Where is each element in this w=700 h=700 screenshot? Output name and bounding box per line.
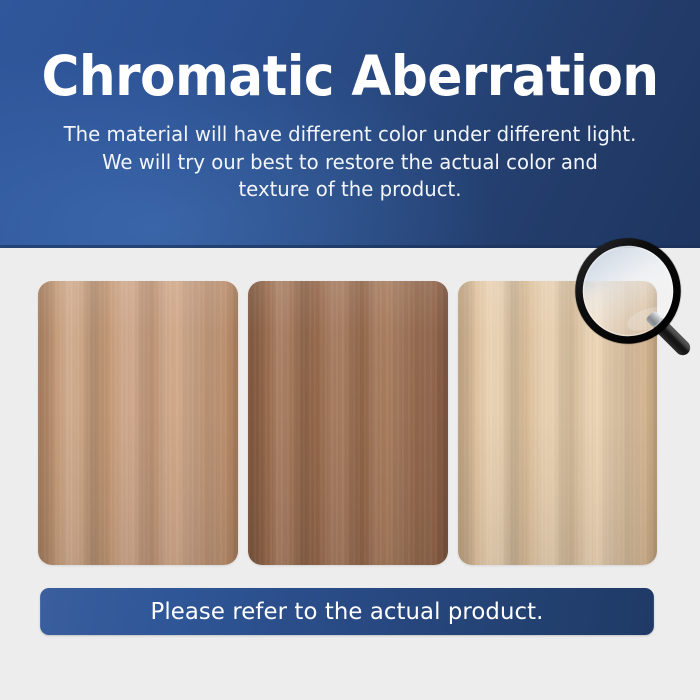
swatch-1-shading: [38, 281, 238, 565]
swatch-2-shading: [248, 281, 448, 565]
page-title: Chromatic Aberration: [21, 48, 679, 106]
wood-swatch-2: [248, 281, 448, 565]
refer-to-actual-product-button[interactable]: Please refer to the actual product.: [40, 588, 654, 635]
wood-swatch-1: [38, 281, 238, 565]
wood-swatch-row: [38, 281, 658, 565]
subtitle-line-2: We will try our best to restore the actu…: [56, 149, 644, 177]
subtitle-line-1: The material will have different color u…: [56, 121, 644, 149]
wood-swatch-3: [458, 281, 657, 565]
header-banner: Chromatic Aberration The material will h…: [0, 0, 700, 248]
swatch-3-shading: [458, 281, 657, 565]
chromatic-aberration-infographic: Chromatic Aberration The material will h…: [0, 0, 700, 700]
subtitle-line-3: texture of the product.: [56, 176, 644, 204]
banner-subtitle: The material will have different color u…: [56, 121, 644, 204]
